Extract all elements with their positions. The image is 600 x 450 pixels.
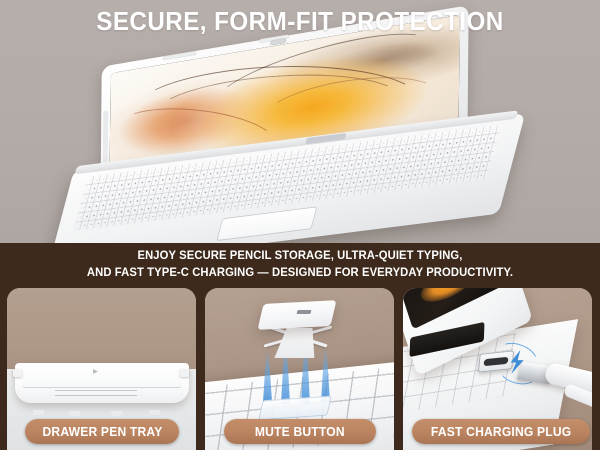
floating-keycap (257, 300, 336, 330)
lid-side-button (103, 110, 108, 164)
caption-label: FAST CHARGING PLUG (431, 425, 571, 439)
hero-section: SECURE, FORM-FIT PROTECTION (0, 0, 600, 243)
pen-tray-foot (33, 410, 44, 415)
pen-tray-clip-right (180, 369, 189, 377)
pen-tray-foot (111, 411, 122, 416)
caption-label: DRAWER PEN TRAY (42, 425, 162, 439)
subtitle-line-2: AND FAST TYPE-C CHARGING — DESIGNED FOR … (9, 264, 591, 281)
subtitle-line-1: ENJOY SECURE PENCIL STORAGE, ULTRA-QUIET… (9, 247, 591, 264)
case-lid-screen (403, 288, 503, 330)
keycap-legend (296, 310, 311, 314)
product-image-keyboard-case (72, 38, 532, 238)
subtitle-band: ENJOY SECURE PENCIL STORAGE, ULTRA-QUIET… (0, 243, 600, 287)
caption-label: MUTE BUTTON (255, 425, 345, 439)
feature-panels: DRAWER PEN TRAY MUTE BUTTON FAST CHARGIN… (0, 285, 600, 450)
pen-tray-foot (149, 410, 160, 415)
product-marketing-banner: SECURE, FORM-FIT PROTECTION ENJOY SECURE… (0, 0, 600, 450)
pen-tray-foot (69, 411, 80, 416)
pen-tray-groove (55, 390, 137, 391)
page-title: SECURE, FORM-FIT PROTECTION (21, 6, 579, 37)
panel-background-upper (7, 288, 196, 369)
pen-tray-clip-left (13, 369, 22, 377)
subtitle-text: ENJOY SECURE PENCIL STORAGE, ULTRA-QUIET… (9, 247, 591, 281)
caption-pill-drawer-pen-tray: DRAWER PEN TRAY (25, 419, 179, 444)
caption-pill-mute-button: MUTE BUTTON (224, 419, 376, 444)
pen-tray-groove (55, 395, 137, 396)
caption-pill-fast-charging-plug: FAST CHARGING PLUG (412, 419, 590, 444)
pen-tray-inner (23, 364, 181, 388)
